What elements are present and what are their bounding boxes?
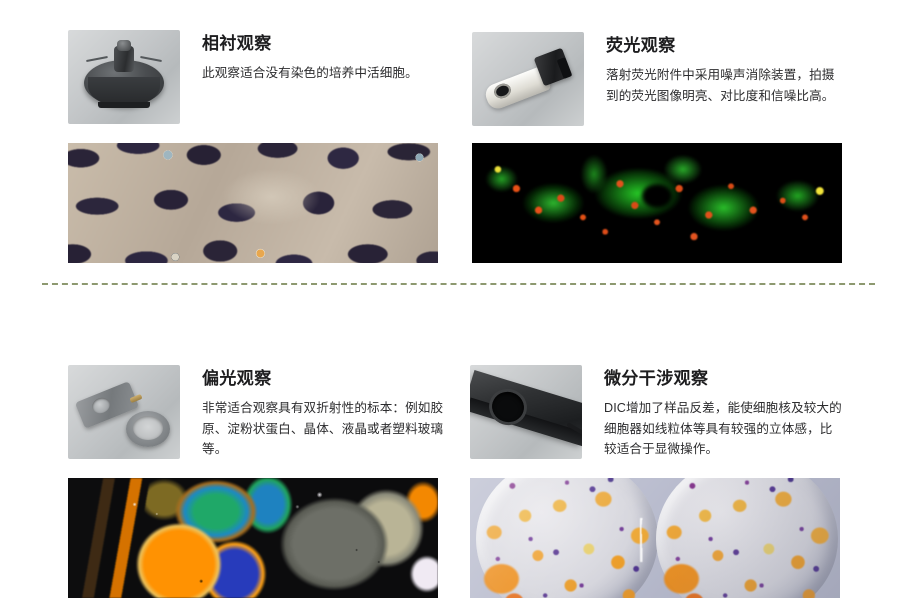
observation-methods-page: 相衬观察 此观察适合没有染色的培养中活细胞。 荧光观察 落射荧光附件中采用噪声消… (0, 0, 900, 601)
condenser-foot (98, 102, 150, 108)
page-title-phase-contrast: 相衬观察 (202, 33, 462, 54)
section-phase-contrast-header: 相衬观察 此观察适合没有染色的培养中活细胞。 (68, 30, 462, 124)
dic-cilia (640, 518, 684, 562)
dic-granules-left (476, 478, 658, 598)
description-fluorescence: 落射荧光附件中采用噪声消除装置，拍摄到的荧光图像明亮、对比度和信噪比高。 (606, 65, 838, 106)
polarizer-analyzer-photo (68, 365, 180, 459)
phase-contrast-text-column: 相衬观察 此观察适合没有染色的培养中活细胞。 (180, 30, 462, 84)
page-title-dic: 微分干涉观察 (604, 368, 842, 389)
analyzer-ring-glass (133, 416, 163, 440)
description-phase-contrast: 此观察适合没有染色的培养中活细胞。 (202, 63, 462, 83)
condenser-knob (117, 40, 131, 51)
fluorescence-attachment-photo (472, 32, 584, 126)
fluorescence-cells-photo (472, 143, 842, 263)
phase-contrast-cell-culture-photo (68, 143, 438, 263)
phase-contrast-condenser-photo (68, 30, 180, 124)
page-title-polarized-light: 偏光观察 (202, 368, 452, 389)
condenser-arm-right (140, 56, 162, 62)
dic-protozoa-photo (470, 478, 840, 598)
crystal-speckle-layer (68, 478, 438, 598)
polarized-light-text-column: 偏光观察 非常适合观察具有双折射性的标本：例如胶原、淀粉状蛋白、晶体、液晶或者塑… (180, 365, 452, 459)
condenser-arm-left (86, 56, 108, 62)
description-polarized-light: 非常适合观察具有双折射性的标本：例如胶原、淀粉状蛋白、晶体、液晶或者塑料玻璃等。 (202, 398, 452, 459)
fluorescence-dark-gap (642, 184, 672, 208)
section-polarized-light-header: 偏光观察 非常适合观察具有双折射性的标本：例如胶原、淀粉状蛋白、晶体、液晶或者塑… (68, 365, 452, 459)
description-dic: DIC增加了样品反差，能使细胞核及较大的细胞器如线粒体等具有较强的立体感，比较适… (604, 398, 842, 459)
dic-protozoan-left (476, 478, 658, 598)
fluorescence-text-column: 荧光观察 落射荧光附件中采用噪声消除装置，拍摄到的荧光图像明亮、对比度和信噪比高… (584, 32, 838, 106)
section-dic-header: 微分干涉观察 DIC增加了样品反差，能使细胞核及较大的细胞器如线粒体等具有较强的… (470, 365, 842, 459)
dic-text-column: 微分干涉观察 DIC增加了样品反差，能使细胞核及较大的细胞器如线粒体等具有较强的… (582, 365, 842, 459)
phase-halo-layer (68, 143, 438, 263)
page-title-fluorescence: 荧光观察 (606, 35, 838, 56)
polarized-crystals-photo (68, 478, 438, 598)
section-fluorescence-header: 荧光观察 落射荧光附件中采用噪声消除装置，拍摄到的荧光图像明亮、对比度和信噪比高… (472, 32, 838, 126)
dic-prism-slider-photo (470, 365, 582, 459)
section-divider (42, 283, 875, 285)
